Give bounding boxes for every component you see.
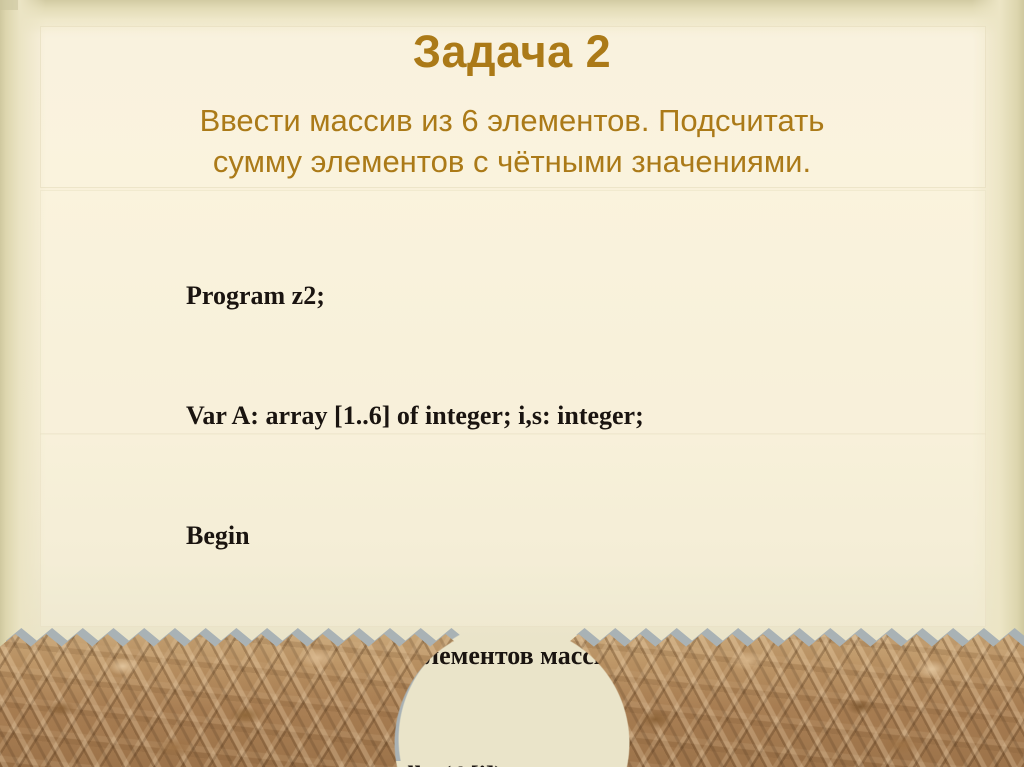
slide-corner-mark [0,0,18,10]
code-line: Program z2; [186,276,662,316]
subtitle-line: Ввести массив из 6 элементов. Подсчитать [50,100,974,141]
slide-title: Задача 2 [0,28,1024,75]
slide-subtitle: Ввести массив из 6 элементов. Подсчитать… [50,100,974,182]
torn-rock-border-texture [0,627,1024,767]
subtitle-line: сумму элементов с чётными значениями. [50,141,974,182]
torn-rock-border [0,627,1024,767]
code-line: Var A: array [1..6] of integer; i,s: int… [186,396,662,436]
presentation-slide: Задача 2 Ввести массив из 6 элементов. П… [0,0,1024,767]
code-line: Begin [186,516,662,556]
